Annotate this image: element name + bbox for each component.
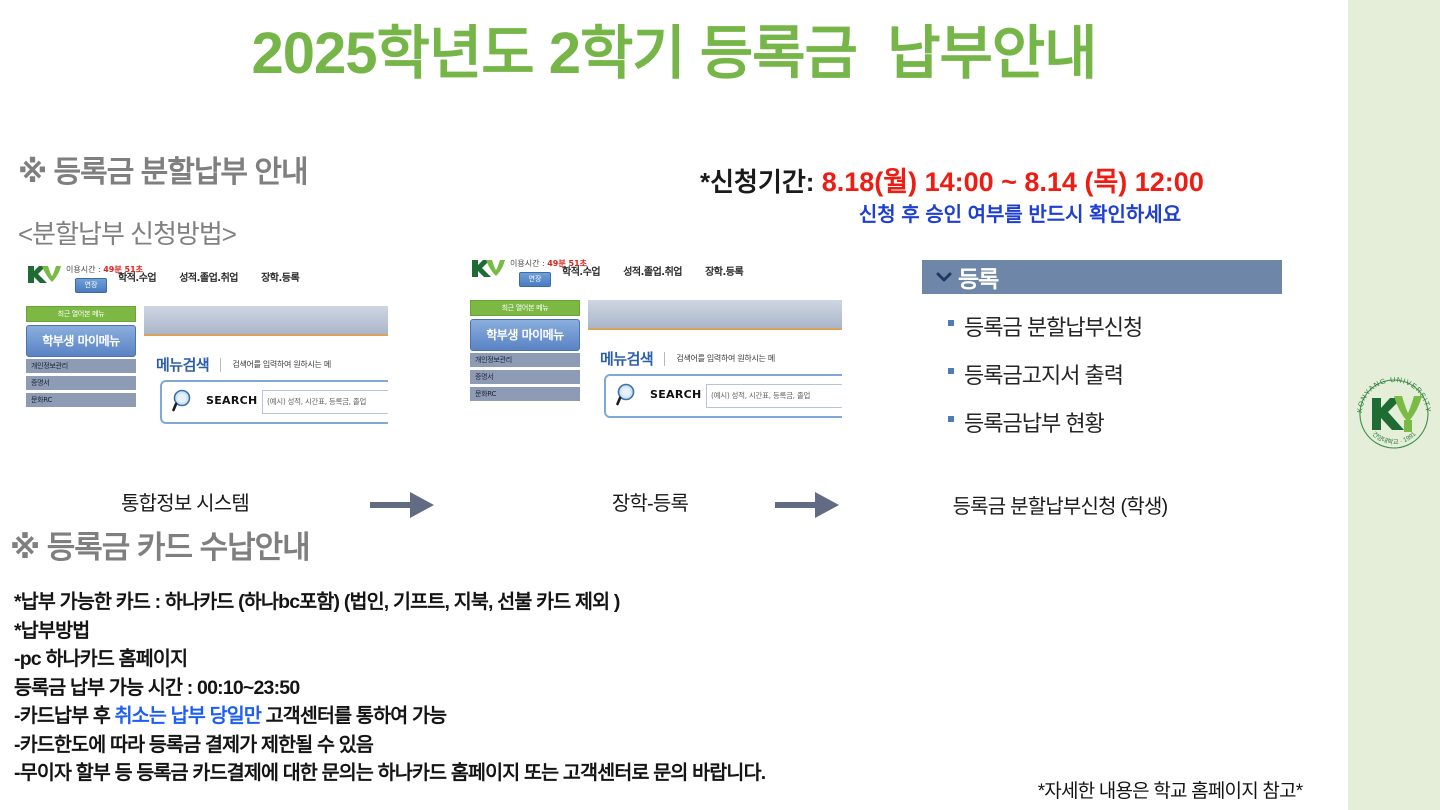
- chevron-down-icon: [936, 269, 952, 285]
- sidebar-item-culture-rc[interactable]: 문화RC: [470, 387, 580, 402]
- flow-caption-step3: 등록금 분할납부신청 (학생): [880, 490, 1240, 519]
- card-notice-line-3: -pc 하나카드 홈페이지: [14, 645, 1014, 674]
- portal-nav: 학적.수업 성적.졸업.취업 장학.등록: [562, 260, 761, 279]
- nav-item-grades[interactable]: 성적.졸업.취업: [623, 263, 682, 278]
- card-payment-heading: ※ 등록금 카드 수납안내: [10, 522, 310, 567]
- card-notice-line-5-pre: -카드납부 후: [14, 705, 115, 727]
- sidebar-item-personal-info[interactable]: 개인정보관리: [470, 353, 580, 368]
- registration-menu-title: 등록: [958, 260, 998, 294]
- portal-content: 메뉴검색 검색어를 입력하여 원하시는 메 SEARCH (예시) 성적, 시간…: [588, 300, 842, 462]
- apply-period-line: *신청기간: 8.18(월) 14:00 ~ 8.14 (목) 12:00: [700, 160, 1340, 199]
- sidebar-item-certificate[interactable]: 증명서: [26, 376, 136, 391]
- card-notice-line-5-post: 고객센터를 통하여 가능: [261, 705, 446, 727]
- nav-item-grades[interactable]: 성적.졸업.취업: [179, 269, 238, 284]
- registration-item-label: 등록금고지서 출력: [964, 363, 1123, 388]
- search-label: SEARCH: [206, 394, 258, 407]
- slide-root: KONYANG UNIVERSITY 건양대학교 · 1991 2025학년도 …: [0, 0, 1440, 810]
- sidebar-item-certificate[interactable]: 증명서: [470, 370, 580, 385]
- portal-topbar: 이용시간 : 49분 51초 연장 학적.수업 성적.졸업.취업 장학.등록: [18, 258, 388, 302]
- my-menu-button[interactable]: 학부생 마이메뉴: [26, 325, 136, 357]
- apply-period-value: 8.18(월) 14:00 ~ 8.14 (목) 12:00: [822, 167, 1204, 197]
- recent-menu-bar[interactable]: 최근 열어본 메뉴: [470, 300, 580, 316]
- menu-search-title: 메뉴검색: [600, 348, 653, 369]
- nav-item-academic[interactable]: 학적.수업: [118, 269, 156, 284]
- registration-item-label: 등록금납부 현황: [964, 411, 1104, 436]
- nav-item-scholarship-registration[interactable]: 장학.등록: [261, 269, 299, 284]
- extend-session-button[interactable]: 연장: [519, 272, 551, 287]
- bullet-icon: [948, 320, 954, 326]
- menu-search-desc: 검색어를 입력하여 원하시는 메: [676, 353, 775, 364]
- menu-search-box[interactable]: SEARCH (예시) 성적, 시간표, 등록금, 졸업: [160, 380, 388, 424]
- apply-period-note: 신청 후 승인 여부를 반드시 확인하세요: [700, 198, 1340, 227]
- page-title: 2025학년도 2학기 등록금 납부안내: [0, 6, 1348, 90]
- portal-banner: [588, 300, 842, 330]
- registration-menu-header[interactable]: 등록: [922, 260, 1282, 294]
- card-notice-line-2: *납부방법: [14, 617, 1014, 646]
- portal-topbar: 이용시간 : 49분 51초 연장 학적.수업 성적.졸업.취업 장학.등록: [462, 252, 842, 296]
- installment-heading: ※ 등록금 분할납부 안내: [18, 147, 308, 191]
- divider: [220, 358, 221, 372]
- registration-item-label: 등록금 분할납부신청: [964, 315, 1142, 340]
- registration-menu-panel: 등록 등록금 분할납부신청 등록금고지서 출력 등록금납부 현황: [922, 260, 1282, 438]
- flow-caption-step2: 장학-등록: [530, 487, 770, 516]
- apply-period-label: *신청기간:: [700, 167, 814, 197]
- my-menu-button[interactable]: 학부생 마이메뉴: [470, 319, 580, 351]
- flow-caption-step1: 통합정보 시스템: [60, 487, 310, 516]
- portal-sidebar: 최근 열어본 메뉴 학부생 마이메뉴 개인정보관리 증명서 문화RC: [26, 306, 136, 408]
- card-payment-notice: *납부 가능한 카드 : 하나카드 (하나bc포함) (법인, 기프트, 지북,…: [14, 588, 1014, 788]
- card-notice-line-7: -무이자 할부 등 등록금 카드결제에 대한 문의는 하나카드 홈페이지 또는 …: [14, 759, 1014, 788]
- portal-banner: [144, 306, 388, 336]
- portal-sidebar: 최근 열어본 메뉴 학부생 마이메뉴 개인정보관리 증명서 문화RC: [470, 300, 580, 402]
- registration-item-installment-apply[interactable]: 등록금 분할납부신청: [922, 310, 1282, 342]
- menu-search-desc: 검색어를 입력하여 원하시는 메: [232, 359, 331, 370]
- menu-search-title: 메뉴검색: [156, 354, 209, 375]
- card-notice-line-1: *납부 가능한 카드 : 하나카드 (하나bc포함) (법인, 기프트, 지북,…: [14, 588, 1014, 617]
- search-icon: [616, 383, 640, 407]
- card-notice-line-5: -카드납부 후 취소는 납부 당일만 고객센터를 통하여 가능: [14, 702, 1014, 731]
- flow-arrow-2-icon: [775, 488, 841, 522]
- portal-screenshot-1: 이용시간 : 49분 51초 연장 학적.수업 성적.졸업.취업 장학.등록 최…: [18, 258, 388, 462]
- divider: [664, 352, 665, 366]
- card-notice-line-5-highlight: 취소는 납부 당일만: [115, 705, 261, 727]
- ky-logo-icon: [470, 257, 506, 279]
- card-notice-line-4: 등록금 납부 가능 시간 : 00:10~23:50: [14, 674, 1014, 703]
- portal-nav: 학적.수업 성적.졸업.취업 장학.등록: [118, 266, 317, 285]
- footnote: *자세한 내용은 학교 홈페이지 참고*: [1000, 776, 1340, 803]
- nav-item-scholarship-registration[interactable]: 장학.등록: [705, 263, 743, 278]
- installment-method-heading: <분할납부 신청방법>: [18, 214, 236, 251]
- menu-search-header: 메뉴검색 검색어를 입력하여 원하시는 메: [156, 354, 331, 375]
- recent-menu-bar[interactable]: 최근 열어본 메뉴: [26, 306, 136, 322]
- portal-content: 메뉴검색 검색어를 입력하여 원하시는 메 SEARCH (예시) 성적, 시간…: [144, 306, 388, 462]
- sidebar-item-personal-info[interactable]: 개인정보관리: [26, 359, 136, 374]
- search-icon: [172, 389, 196, 413]
- menu-search-header: 메뉴검색 검색어를 입력하여 원하시는 메: [600, 348, 775, 369]
- bullet-icon: [948, 416, 954, 422]
- flow-arrow-1-icon: [370, 488, 436, 522]
- card-notice-line-6: -카드한도에 따라 등록금 결제가 제한될 수 있음: [14, 731, 1014, 760]
- menu-search-box[interactable]: SEARCH (예시) 성적, 시간표, 등록금, 졸업: [604, 374, 842, 418]
- konyang-university-emblem: KONYANG UNIVERSITY 건양대학교 · 1991: [1352, 362, 1436, 466]
- search-input[interactable]: (예시) 성적, 시간표, 등록금, 졸업: [706, 384, 842, 408]
- ky-logo-icon: [26, 263, 62, 285]
- sidebar-item-culture-rc[interactable]: 문화RC: [26, 393, 136, 408]
- bullet-icon: [948, 368, 954, 374]
- registration-item-bill-print[interactable]: 등록금고지서 출력: [922, 358, 1282, 390]
- registration-item-payment-status[interactable]: 등록금납부 현황: [922, 406, 1282, 438]
- extend-session-button[interactable]: 연장: [75, 278, 107, 293]
- svg-text:KONYANG UNIVERSITY: KONYANG UNIVERSITY: [1355, 375, 1433, 413]
- portal-screenshot-2: 이용시간 : 49분 51초 연장 학적.수업 성적.졸업.취업 장학.등록 최…: [462, 252, 842, 462]
- search-label: SEARCH: [650, 388, 702, 401]
- search-input[interactable]: (예시) 성적, 시간표, 등록금, 졸업: [262, 390, 388, 414]
- nav-item-academic[interactable]: 학적.수업: [562, 263, 600, 278]
